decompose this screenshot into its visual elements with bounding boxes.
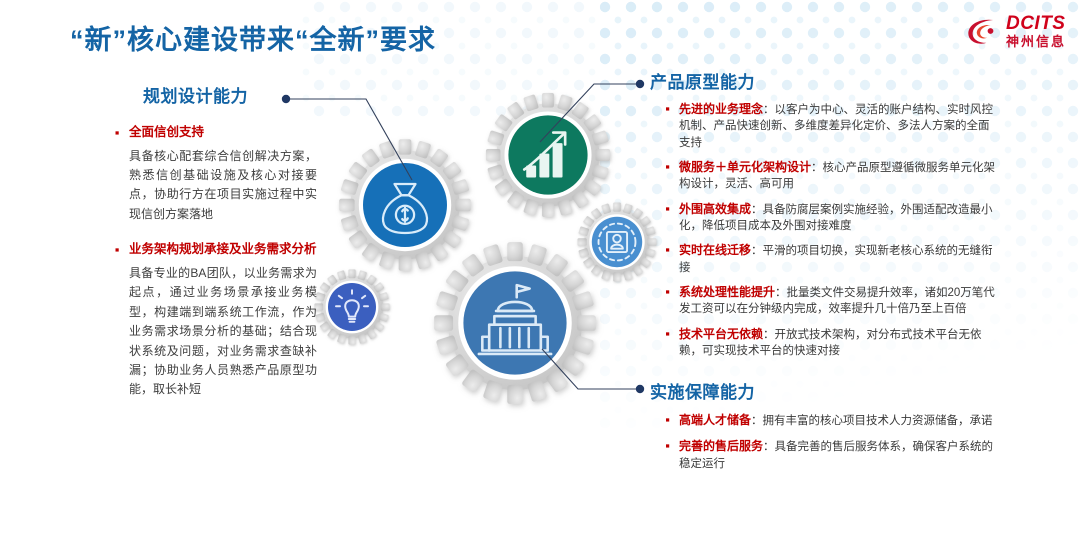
bullet-marker-icon: ▪ [663,438,672,472]
bullet-marker-icon: ▪ [663,326,672,360]
left-block-2-title: 业务架构规划承接及业务需求分析 [129,241,317,259]
left-block-2-body: 具备专业的BA团队，以业务需求为起点，通过业务场景承接业务模型，构建端到端系统工… [129,264,317,400]
left-block-1-title: 全面信创支持 [129,124,317,142]
list-item: ▪ 系统处理性能提升：批量类文件交易提升效率，诸如20万笔代发工资可以在分钟级内… [663,284,1000,318]
list-item: ▪ 高端人才储备：拥有丰富的核心项目技术人力资源储备，承诺 [663,412,1000,429]
right-column-delivery: 实施保障能力 ▪ 高端人才储备：拥有丰富的核心项目技术人力资源储备，承诺 ▪ 完… [650,378,1000,472]
logo-text-en: DCITS [1006,14,1066,34]
bullet-key: 高端人才储备 [679,413,751,427]
swoosh-logo-icon [965,14,999,48]
left-column-heading: 规划设计能力 [113,82,317,107]
bullet-marker-icon: ▪ [113,125,121,224]
bullet-key: 微服务＋单元化架构设计 [679,160,811,174]
bullet-text: ：拥有丰富的核心项目技术人力资源储备，承诺 [751,415,993,427]
list-item: ▪ 微服务＋单元化架构设计：核心产品原型遵循微服务单元化架构设计，灵活、高可用 [663,159,1000,193]
person-badge-gear [578,203,657,282]
gear-illustration [300,75,690,435]
bullet-marker-icon: ▪ [663,159,672,193]
bullet-marker-icon: ▪ [113,242,121,400]
bullet-key: 外围高效集成 [679,202,751,216]
lightbulb-gear [314,269,389,344]
bullet-key: 实时在线迁移 [679,243,751,257]
right-top-bullet-list: ▪ 先进的业务理念：以客户为中心、灵活的账户结构、实时风控机制、产品快速创新、多… [650,101,1000,359]
list-item: ▪ 实时在线迁移：平滑的项目切换，实现新老核心系统的无缝衔接 [663,242,1000,276]
right-column-prototype: 产品原型能力 ▪ 先进的业务理念：以客户为中心、灵活的账户结构、实时风控机制、产… [650,68,1000,359]
bullet-marker-icon: ▪ [663,242,672,276]
bank-gear [434,242,596,404]
left-block-1-body: 具备核心配套综合信创解决方案，熟悉信创基础设施及核心对接要点，协助行方在项目实施… [129,147,317,225]
bullet-key: 技术平台无依赖 [679,327,763,341]
bullet-marker-icon: ▪ [663,412,672,429]
right-top-heading: 产品原型能力 [650,68,1000,93]
bullet-marker-icon: ▪ [663,101,672,151]
growth-chart-gear [486,93,610,217]
bullet-key: 系统处理性能提升 [679,285,775,299]
money-bag-gear [339,139,471,271]
page-title: “新”核心建设带来“全新”要求 [70,18,436,57]
right-bottom-bullet-list: ▪ 高端人才储备：拥有丰富的核心项目技术人力资源储备，承诺 ▪ 完善的售后服务：… [650,412,1000,472]
bullet-marker-icon: ▪ [663,284,672,318]
list-item: ▪ 技术平台无依赖：开放式技术架构，对分布式技术平台无依赖，可实现技术平台的快速… [663,326,1000,360]
brand-logo: DCITS 神州信息 [965,14,1066,49]
bullet-marker-icon: ▪ [663,201,672,235]
list-item: ▪ 完善的售后服务：具备完善的售后服务体系，确保客户系统的稳定运行 [663,438,1000,472]
left-block-1: ▪ 全面信创支持 具备核心配套综合信创解决方案，熟悉信创基础设施及核心对接要点，… [113,124,317,224]
logo-text-cn: 神州信息 [1006,35,1066,49]
list-item: ▪ 外围高效集成：具备防腐层案例实施经验，外围适配改造最小化，降低项目成本及外围… [663,201,1000,235]
left-block-2: ▪ 业务架构规划承接及业务需求分析 具备专业的BA团队，以业务需求为起点，通过业… [113,241,317,400]
bullet-key: 先进的业务理念 [679,102,763,116]
left-column: 规划设计能力 ▪ 全面信创支持 具备核心配套综合信创解决方案，熟悉信创基础设施及… [113,82,317,400]
list-item: ▪ 先进的业务理念：以客户为中心、灵活的账户结构、实时风控机制、产品快速创新、多… [663,101,1000,151]
bullet-key: 完善的售后服务 [679,439,763,453]
right-bottom-heading: 实施保障能力 [650,378,1000,403]
